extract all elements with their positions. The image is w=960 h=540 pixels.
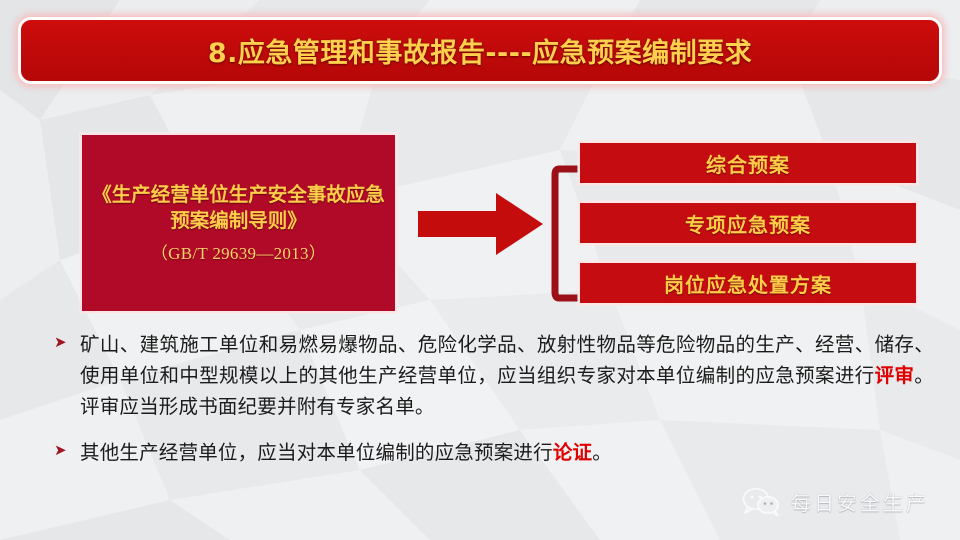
right-arrow-icon [418, 193, 543, 255]
watermark: 每日安全生产 [742, 487, 929, 516]
list-item: ➤ 其他生产经营单位，应当对本单位编制的应急预案进行论证。 [54, 438, 934, 469]
page-title: 8.应急管理和事故报告----应急预案编制要求 [208, 31, 752, 70]
bullet-arrow-icon: ➤ [54, 438, 80, 458]
standard-code: （GB/T 29639—2013） [151, 239, 326, 264]
standard-reference-box: 《生产经营单位生产安全事故应急预案编制导则》 （GB/T 29639—2013） [80, 133, 397, 313]
bullet-segment: 其他生产经营单位，应当对本单位编制的应急预案进行 [80, 441, 553, 464]
plan-bar-special: 专项应急预案 [578, 201, 918, 245]
bullet-segment: 。 [592, 441, 612, 464]
list-item: ➤ 矿山、建筑施工单位和易燃易爆物品、危险化学品、放射性物品等危险物品的生产、经… [54, 330, 934, 422]
wechat-icon [742, 488, 782, 516]
plan-bar-label: 专项应急预案 [685, 209, 811, 238]
bullet-arrow-icon: ➤ [54, 330, 80, 350]
bullet-segment: 矿山、建筑施工单位和易燃易爆物品、危险化学品、放射性物品等危险物品的生产、经营、… [80, 333, 934, 387]
plan-bar-comprehensive: 综合预案 [578, 141, 918, 185]
bullet-text: 矿山、建筑施工单位和易燃易爆物品、危险化学品、放射性物品等危险物品的生产、经营、… [80, 330, 934, 422]
bullet-text: 其他生产经营单位，应当对本单位编制的应急预案进行论证。 [80, 438, 934, 469]
watermark-label: 每日安全生产 [791, 487, 929, 516]
plan-bar-label: 岗位应急处置方案 [664, 269, 832, 298]
left-bracket-icon [551, 165, 579, 302]
bullet-list: ➤ 矿山、建筑施工单位和易燃易爆物品、危险化学品、放射性物品等危险物品的生产、经… [54, 330, 934, 485]
slide-canvas: 8.应急管理和事故报告----应急预案编制要求 《生产经营单位生产安全事故应急预… [0, 0, 960, 540]
plan-bar-label: 综合预案 [706, 149, 790, 178]
bullet-highlight: 评审 [875, 364, 915, 387]
slide-title-banner: 8.应急管理和事故报告----应急预案编制要求 [18, 17, 942, 84]
bullet-highlight: 论证 [553, 441, 592, 464]
plan-bar-position: 岗位应急处置方案 [578, 261, 918, 305]
standard-name: 《生产经营单位生产安全事故应急预案编制导则》 [91, 182, 387, 234]
